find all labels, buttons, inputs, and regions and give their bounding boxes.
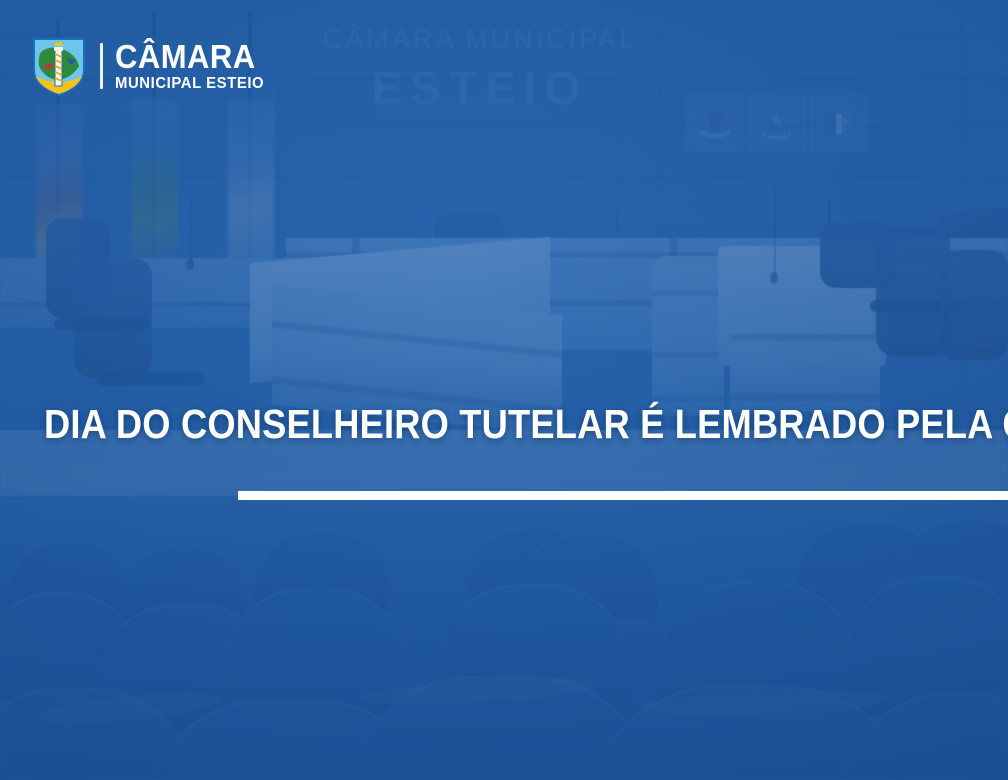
coat-of-arms-shield-icon bbox=[32, 36, 86, 96]
title-underline-rule bbox=[238, 491, 1008, 500]
logo-line-1: CÂMARA bbox=[115, 40, 261, 73]
logo-divider bbox=[100, 43, 103, 89]
logo-line-2: MUNICIPAL ESTEIO bbox=[115, 76, 264, 92]
page-title: DIA DO CONSELHEIRO TUTELAR É LEMBRADO PE… bbox=[44, 404, 862, 446]
logo-wordmark: CÂMARA MUNICIPAL ESTEIO bbox=[115, 40, 270, 92]
plenary-photo-scene: CÂMARA MUNICIPAL ESTEIO bbox=[0, 0, 1008, 780]
vignette-overlay bbox=[0, 0, 1008, 780]
news-hero-banner: CÂMARA MUNICIPAL ESTEIO bbox=[0, 0, 1008, 780]
camara-logo[interactable]: CÂMARA MUNICIPAL ESTEIO bbox=[32, 36, 270, 96]
